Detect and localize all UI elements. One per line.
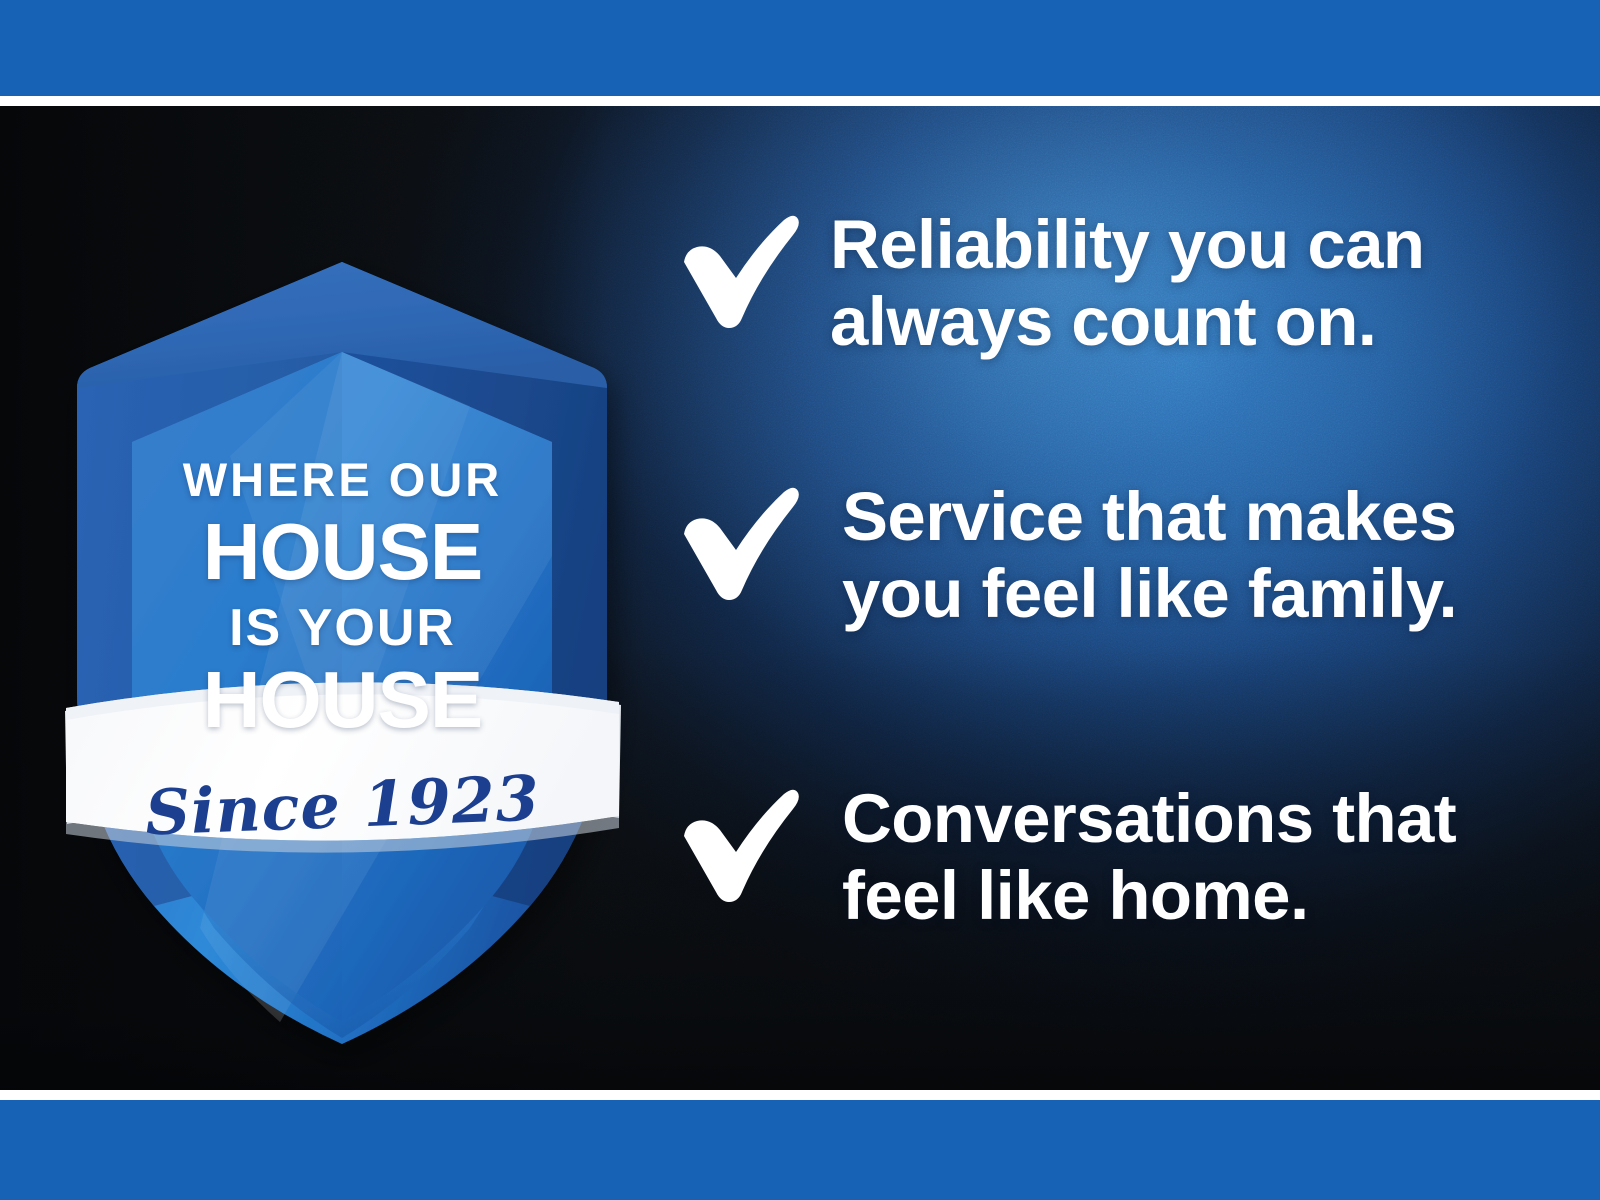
- top-divider: [0, 96, 1600, 106]
- bottom-divider: [0, 1090, 1600, 1100]
- check-icon: [680, 788, 800, 906]
- main-stage: WHERE OUR HOUSE IS YOUR HOUSE Since 1923…: [0, 106, 1600, 1090]
- shield-line-is-your: IS YOUR: [70, 602, 615, 654]
- ribbon-since-text: Since 1923: [144, 767, 541, 844]
- promo-graphic: WHERE OUR HOUSE IS YOUR HOUSE Since 1923…: [0, 0, 1600, 1200]
- shield-line-where: WHERE OUR: [70, 456, 615, 503]
- top-brand-bar: [0, 0, 1600, 96]
- shield-badge: WHERE OUR HOUSE IS YOUR HOUSE Since 1923: [70, 256, 615, 1056]
- shield-line-house-first: HOUSE: [70, 512, 615, 592]
- shield-line-house-second: HOUSE: [70, 660, 615, 740]
- list-item-label: Reliability you can always count on.: [830, 206, 1542, 361]
- bottom-brand-bar: [0, 1100, 1600, 1200]
- list-item-label: Conversations that feel like home.: [842, 780, 1554, 935]
- check-icon: [680, 214, 800, 332]
- list-item-label: Service that makes you feel like family.: [842, 478, 1554, 633]
- check-icon: [680, 486, 800, 604]
